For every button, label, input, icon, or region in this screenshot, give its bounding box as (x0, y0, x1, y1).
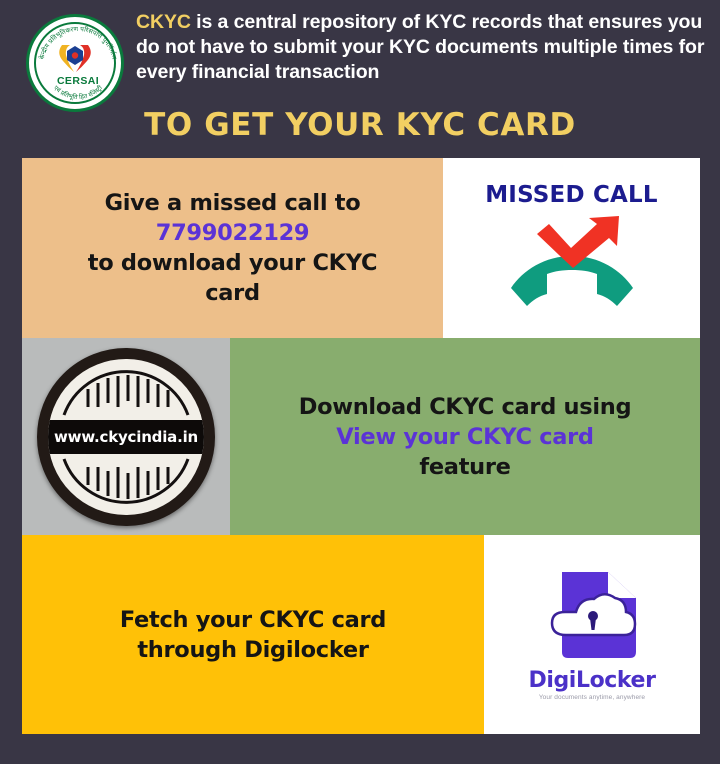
view-card-feature-link[interactable]: View your CKYC card (299, 422, 632, 452)
view-card-copy: Download CKYC card using View your CKYC … (285, 392, 646, 482)
missed-call-line-1: Give a missed call to (88, 188, 377, 218)
view-card-text-cell: Download CKYC card using View your CKYC … (230, 338, 700, 535)
digilocker-tagline: Your documents anytime, anywhere (539, 694, 645, 701)
missed-call-icon-cell: MISSED CALL (443, 158, 700, 338)
digilocker-text-cell: Fetch your CKYC card through Digilocker (22, 535, 484, 734)
step-row-missed-call: Give a missed call to 7799022129 to down… (22, 158, 700, 338)
cersai-seal-icon: केन्द्रीय प्रतिभूतिकरण परिसंपत्ति पुनर्न… (26, 14, 124, 112)
digilocker-brand-name: DigiLocker (528, 668, 655, 693)
ckycindia-coin-badge-icon: www.ckycindia.in (37, 348, 215, 526)
digilocker-line-1: Fetch your CKYC card (120, 605, 386, 635)
digilocker-brand-link[interactable]: Digilocker (244, 637, 368, 663)
digilocker-document-cloud-icon (536, 568, 648, 664)
missed-call-phone-number[interactable]: 7799022129 (88, 218, 377, 248)
missed-call-label: MISSED CALL (485, 182, 658, 208)
header-banner: केन्द्रीय प्रतिभूतिकरण परिसंपत्ति पुनर्न… (0, 0, 720, 150)
digilocker-copy: Fetch your CKYC card through Digilocker (106, 605, 400, 665)
page-title: TO GET YOUR KYC CARD (0, 107, 720, 143)
cersai-seal-name: CERSAI (29, 75, 124, 87)
ckycindia-badge-cell: www.ckycindia.in (22, 338, 230, 535)
digilocker-line-2-prefix: through (137, 637, 244, 663)
view-card-line-3: feature (299, 452, 632, 482)
missed-call-text-cell: Give a missed call to 7799022129 to down… (22, 158, 443, 338)
cersai-emblem-icon (54, 41, 96, 75)
header-paragraph: CKYC is a central repository of KYC reco… (136, 10, 708, 85)
step-row-view-card: www.ckycindia.in Download CKYC card usin… (22, 338, 700, 535)
header-paragraph-rest: is a central repository of KYC records t… (136, 11, 704, 83)
digilocker-line-2: through Digilocker (120, 635, 386, 665)
missed-call-line-4: card (88, 278, 377, 308)
ckycindia-url[interactable]: www.ckycindia.in (54, 428, 198, 446)
missed-call-icon (497, 214, 647, 314)
digilocker-logo-icon (536, 568, 648, 664)
view-card-line-1: Download CKYC card using (299, 392, 632, 422)
step-row-digilocker: Fetch your CKYC card through Digilocker … (22, 535, 700, 734)
missed-call-line-3: to download your CKYC (88, 248, 377, 278)
steps-panel: Give a missed call to 7799022129 to down… (22, 158, 700, 734)
digilocker-icon-cell: DigiLocker Your documents anytime, anywh… (484, 535, 700, 734)
missed-call-copy: Give a missed call to 7799022129 to down… (74, 188, 391, 308)
header-paragraph-highlight: CKYC (136, 11, 191, 33)
cersai-logo: केन्द्रीय प्रतिभूतिकरण परिसंपत्ति पुनर्न… (26, 14, 124, 112)
ckycindia-url-band: www.ckycindia.in (42, 420, 210, 454)
